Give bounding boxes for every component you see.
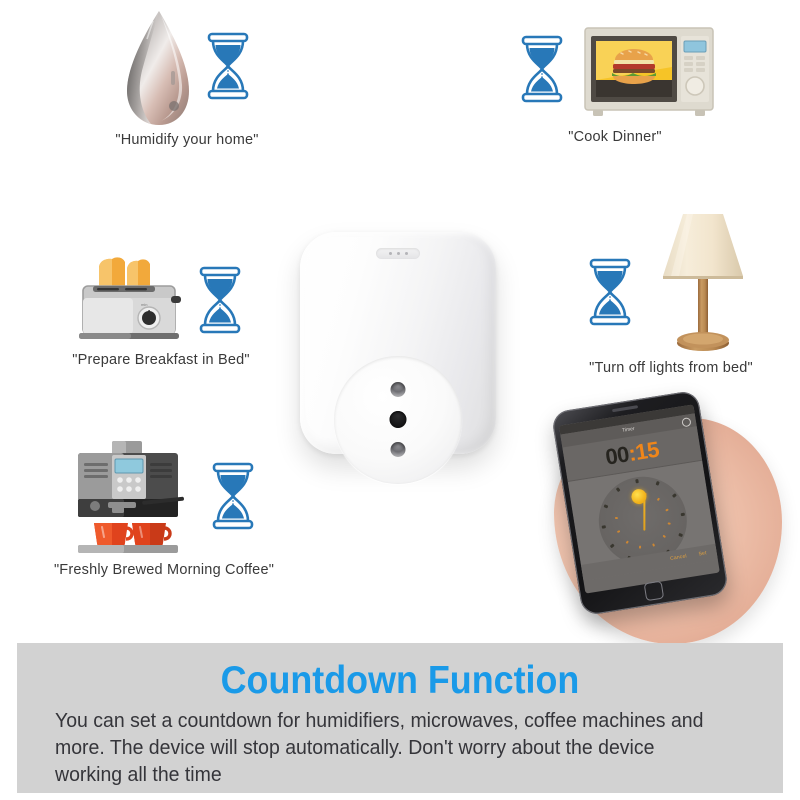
cancel-button[interactable]: Cancel bbox=[670, 553, 687, 562]
hourglass-icon bbox=[583, 257, 637, 332]
smart-plug bbox=[292, 218, 504, 466]
timer-dial-area[interactable]: Cancel Set bbox=[568, 461, 718, 581]
smartphone: Timer 00 : 15 bbox=[551, 390, 729, 617]
hourglass-icon bbox=[193, 265, 247, 340]
indicator-led-strip bbox=[376, 248, 420, 259]
svg-text:min: min bbox=[141, 302, 147, 307]
humidifier-icon bbox=[119, 9, 195, 127]
feature-coffee: "Freshly Brewed Morning Coffee" bbox=[18, 434, 310, 578]
feature-caption: "Prepare Breakfast in Bed" bbox=[28, 352, 294, 368]
banner-body: You can set a countdown for humidifiers,… bbox=[17, 705, 745, 788]
hourglass-icon bbox=[206, 461, 260, 536]
product-infographic: "Humidify your home" bbox=[0, 0, 800, 800]
socket-face bbox=[334, 356, 462, 484]
feature-cook-dinner: "Cook Dinner" bbox=[490, 14, 740, 145]
dial-knob-handle[interactable] bbox=[630, 488, 647, 505]
feature-turn-off-lights: "Turn off lights from bed" bbox=[542, 210, 800, 376]
timer-seconds: 15 bbox=[634, 437, 661, 466]
feature-caption: "Turn off lights from bed" bbox=[542, 360, 800, 376]
smart-plug-body bbox=[300, 232, 496, 454]
hourglass-icon bbox=[515, 34, 569, 109]
hand-holding-phone: Timer 00 : 15 bbox=[548, 398, 800, 650]
earpiece-speaker bbox=[612, 405, 638, 412]
countdown-banner: Countdown Function You can set a countdo… bbox=[17, 643, 783, 793]
set-button[interactable]: Set bbox=[698, 550, 707, 557]
gear-icon[interactable] bbox=[681, 417, 691, 427]
feature-caption: "Freshly Brewed Morning Coffee" bbox=[18, 562, 310, 578]
feature-caption: "Cook Dinner" bbox=[490, 129, 740, 145]
banner-title: Countdown Function bbox=[48, 643, 753, 705]
microwave-icon bbox=[583, 22, 715, 122]
phone-screen: Timer 00 : 15 bbox=[559, 404, 720, 593]
home-button[interactable] bbox=[644, 581, 665, 602]
app-bar-title: Timer bbox=[622, 426, 635, 434]
coffee-machine-icon bbox=[68, 439, 190, 557]
feature-humidify: "Humidify your home" bbox=[62, 4, 312, 148]
hourglass-icon bbox=[201, 31, 255, 106]
table-lamp-icon bbox=[647, 210, 759, 360]
toaster-icon: min bbox=[75, 256, 183, 348]
feature-prepare-breakfast: min bbox=[28, 252, 294, 368]
socket-pin-bottom bbox=[391, 442, 406, 457]
socket-pin-top bbox=[391, 382, 406, 397]
feature-caption: "Humidify your home" bbox=[62, 132, 312, 148]
socket-pin-center bbox=[390, 411, 407, 428]
